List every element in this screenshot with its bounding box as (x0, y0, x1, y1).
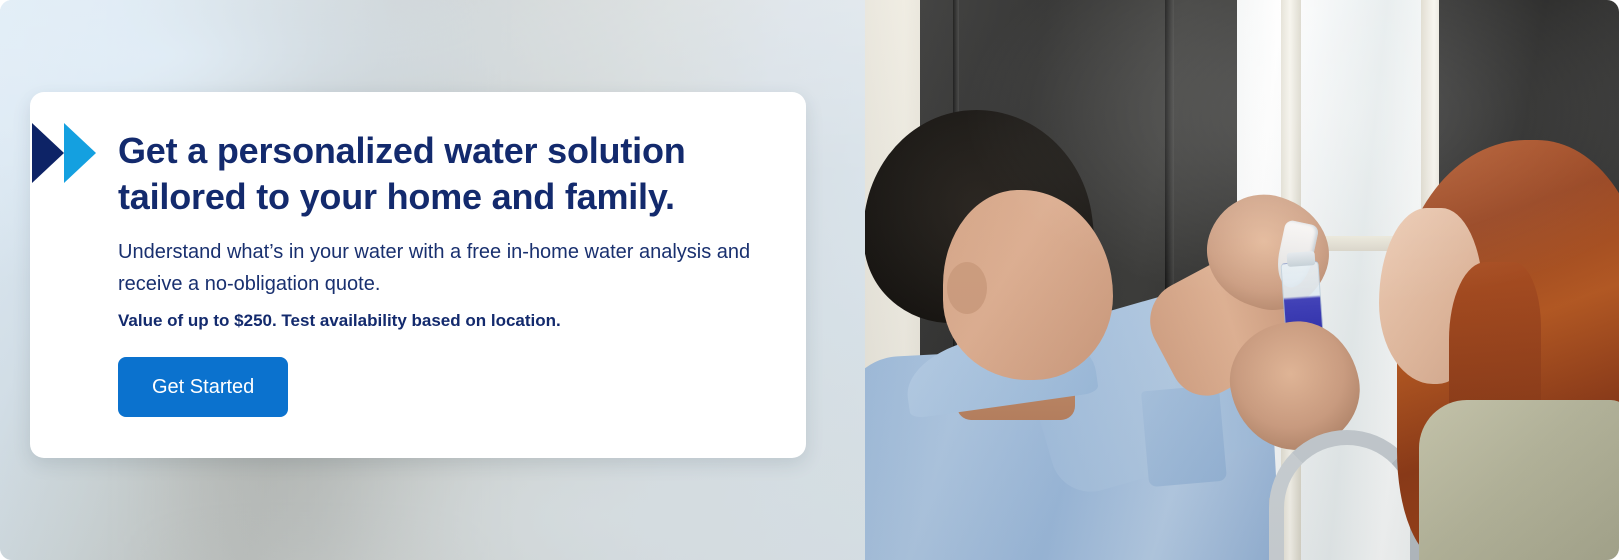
water-test-vial-cap (1287, 251, 1316, 267)
double-chevron-arrow-logo (30, 119, 98, 187)
page-title: Get a personalized water solution tailor… (118, 128, 778, 220)
kitchen-scene (865, 0, 1619, 560)
man-shirt-pocket (1141, 385, 1227, 487)
woman-olive-top (1419, 400, 1619, 560)
promo-banner: Get a personalized water solution tailor… (0, 0, 1619, 560)
offer-fineprint: Value of up to $250. Test availability b… (118, 309, 778, 333)
offer-card-content: Get a personalized water solution tailor… (118, 128, 778, 417)
man-ear (947, 262, 987, 314)
get-started-button[interactable]: Get Started (118, 357, 288, 417)
offer-description: Understand what’s in your water with a f… (118, 236, 778, 300)
